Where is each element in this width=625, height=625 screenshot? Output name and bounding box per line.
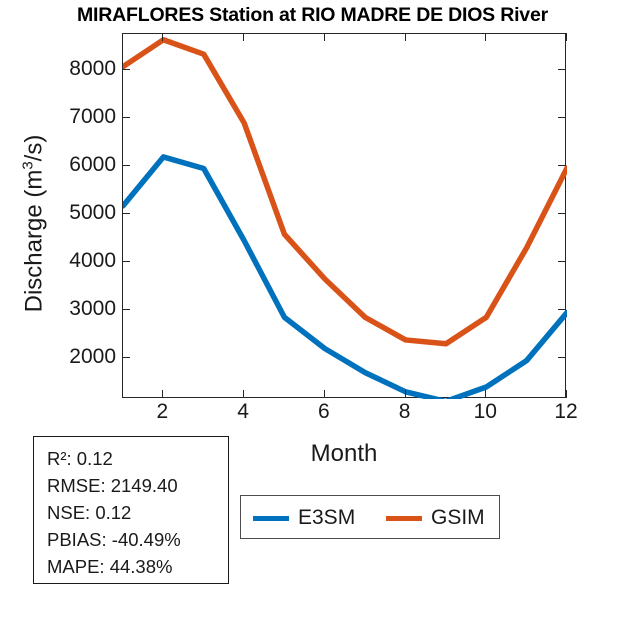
y-axis-label-exponent: 3 bbox=[20, 161, 37, 169]
y-axis-tick-mark bbox=[558, 165, 566, 166]
statistic-line: R²: 0.12 bbox=[47, 445, 228, 472]
x-axis-tick-mark bbox=[324, 33, 325, 41]
y-axis-tick-label: 5000 bbox=[50, 201, 116, 225]
y-axis-tick-label: 4000 bbox=[50, 249, 116, 273]
x-axis-tick-mark bbox=[405, 390, 406, 398]
x-axis-tick-mark bbox=[566, 33, 567, 41]
y-axis-tick-label: 2000 bbox=[50, 345, 116, 369]
x-axis-tick-mark bbox=[243, 33, 244, 41]
y-axis-tick-mark bbox=[122, 261, 130, 262]
x-axis-tick-mark bbox=[405, 33, 406, 41]
x-axis-tick-mark bbox=[162, 33, 163, 41]
legend-entry-gsim[interactable]: GSIM bbox=[386, 496, 485, 540]
plot-area bbox=[122, 33, 566, 398]
statistic-line: RMSE: 2149.40 bbox=[47, 472, 228, 499]
y-axis-tick-mark bbox=[122, 357, 130, 358]
x-axis-tick-mark bbox=[162, 390, 163, 398]
x-axis-tick-label: 12 bbox=[536, 400, 596, 424]
x-axis-tick-label: 6 bbox=[294, 400, 354, 424]
y-axis-tick-label: 8000 bbox=[50, 57, 116, 81]
y-axis-tick-mark bbox=[122, 165, 130, 166]
legend-swatch-gsim bbox=[386, 516, 422, 521]
x-axis-tick-mark bbox=[243, 390, 244, 398]
y-axis-tick-mark bbox=[558, 117, 566, 118]
x-axis-tick-mark bbox=[324, 390, 325, 398]
statistics-box: R²: 0.12RMSE: 2149.40NSE: 0.12PBIAS: -40… bbox=[33, 436, 229, 584]
y-axis-tick-mark bbox=[558, 261, 566, 262]
chart-legend[interactable]: E3SMGSIM bbox=[240, 495, 500, 539]
y-axis-tick-mark bbox=[558, 357, 566, 358]
statistic-line: PBIAS: -40.49% bbox=[47, 526, 228, 553]
x-axis-tick-mark bbox=[485, 33, 486, 41]
legend-swatch-e3sm bbox=[253, 516, 289, 521]
chart-figure: MIRAFLORES Station at RIO MADRE DE DIOS … bbox=[0, 0, 625, 625]
plot-lines bbox=[123, 34, 567, 399]
statistic-line: MAPE: 44.38% bbox=[47, 553, 228, 580]
legend-entry-e3sm[interactable]: E3SM bbox=[253, 496, 355, 540]
statistic-line: NSE: 0.12 bbox=[47, 499, 228, 526]
y-axis-tick-label: 7000 bbox=[50, 105, 116, 129]
y-axis-tick-mark bbox=[558, 69, 566, 70]
y-axis-tick-mark bbox=[558, 213, 566, 214]
x-axis-tick-mark bbox=[566, 390, 567, 398]
y-axis-tick-mark bbox=[122, 213, 130, 214]
x-axis-tick-label: 8 bbox=[375, 400, 435, 424]
series-line-gsim bbox=[123, 40, 567, 344]
x-axis-tick-mark bbox=[485, 390, 486, 398]
legend-label-e3sm: E3SM bbox=[298, 506, 355, 530]
series-line-e3sm bbox=[123, 157, 567, 399]
y-axis-label-tail: /s) bbox=[21, 135, 48, 162]
y-axis-tick-label: 3000 bbox=[50, 297, 116, 321]
y-axis-label: Discharge (m3/s) bbox=[20, 59, 49, 389]
y-axis-tick-label: 6000 bbox=[50, 153, 116, 177]
y-axis-label-main: Discharge (m bbox=[21, 170, 48, 313]
x-axis-tick-label: 10 bbox=[455, 400, 515, 424]
y-axis-tick-mark bbox=[122, 69, 130, 70]
y-axis-tick-mark bbox=[558, 309, 566, 310]
x-axis-tick-label: 2 bbox=[132, 400, 192, 424]
legend-label-gsim: GSIM bbox=[431, 506, 485, 530]
y-axis-tick-mark bbox=[122, 117, 130, 118]
y-axis-tick-mark bbox=[122, 309, 130, 310]
x-axis-tick-label: 4 bbox=[213, 400, 273, 424]
